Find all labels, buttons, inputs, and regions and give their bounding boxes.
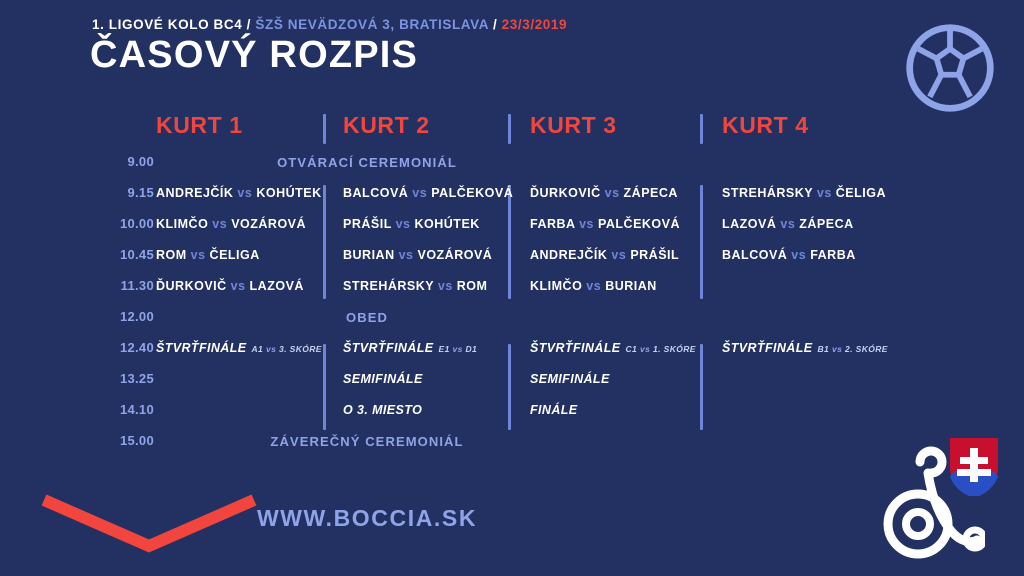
match-cell[interactable]: LAZOVÁ vs ZÁPECA	[722, 217, 854, 231]
match-cell[interactable]: KLIMČO vs VOZÁROVÁ	[156, 217, 306, 231]
row-time: 14.10	[92, 402, 154, 417]
match-cell[interactable]: ANDREJČÍK vs PRÁŠIL	[530, 248, 679, 262]
player-a: KLIMČO	[530, 279, 582, 293]
stage-cell[interactable]: ŠTVRŤFINÁLEE1 vs D1	[343, 341, 477, 355]
player-b: PALČEKOVÁ	[598, 217, 680, 231]
match-cell[interactable]: ANDREJČÍK vs KOHÚTEK	[156, 186, 322, 200]
match-cell[interactable]: BURIAN vs VOZÁROVÁ	[343, 248, 492, 262]
header-divider-1	[323, 114, 326, 144]
banner-label: OTVÁRACÍ CEREMONIÁL	[0, 155, 1024, 170]
page-title: ČASOVÝ ROZPIS	[90, 36, 418, 74]
player-b: BURIAN	[605, 279, 657, 293]
stage-cell[interactable]: SEMIFINÁLE	[530, 372, 610, 386]
red-chevron-shape	[38, 492, 260, 554]
vs-label: vs	[231, 279, 246, 293]
stage-cell[interactable]: SEMIFINÁLE	[343, 372, 423, 386]
vs-label: vs	[412, 186, 427, 200]
match-cell[interactable]: ROM vs ČELIGA	[156, 248, 260, 262]
row-time: 11.30	[92, 278, 154, 293]
player-a: ROM	[156, 248, 187, 262]
player-a: STREHÁRSKY	[722, 186, 813, 200]
player-b: VOZÁROVÁ	[417, 248, 492, 262]
match-cell[interactable]: ĎURKOVIČ vs LAZOVÁ	[156, 279, 304, 293]
schedule-rows: 9.00OTVÁRACÍ CEREMONIÁL9.15ANDREJČÍK vs …	[0, 150, 1024, 460]
stage-cell[interactable]: ŠTVRŤFINÁLEC1 vs 1. SKÓRE	[530, 341, 696, 355]
row-time: 12.40	[92, 340, 154, 355]
player-a: ANDREJČÍK	[156, 186, 233, 200]
boccia-ball-icon	[902, 20, 998, 116]
stage-cell[interactable]: FINÁLE	[530, 403, 578, 417]
separator-1: /	[242, 17, 255, 32]
stage-label: ŠTVRŤFINÁLE	[722, 341, 813, 355]
separator-2: /	[489, 17, 502, 32]
schedule-poster: 1. LIGOVÉ KOLO BC4 / ŠZŠ NEVÄDZOVÁ 3, BR…	[0, 0, 1024, 576]
player-b: KOHÚTEK	[415, 217, 480, 231]
vs-label: vs	[191, 248, 206, 262]
slovak-coat-of-arms-icon	[948, 436, 1000, 496]
stage-label: SEMIFINÁLE	[530, 372, 610, 386]
player-b: FARBA	[810, 248, 856, 262]
schedule-row: 12.00OBED	[0, 305, 1024, 336]
stage-label: ŠTVRŤFINÁLE	[343, 341, 434, 355]
header-divider-2	[508, 114, 511, 144]
player-a: BALCOVÁ	[722, 248, 787, 262]
player-b: ROM	[457, 279, 488, 293]
court-header-row: KURT 1 KURT 2 KURT 3 KURT 4	[0, 112, 1024, 148]
player-b: ZÁPECA	[799, 217, 853, 231]
stage-label: ŠTVRŤFINÁLE	[530, 341, 621, 355]
player-a: STREHÁRSKY	[343, 279, 434, 293]
schedule-row: 15.00ZÁVEREČNÝ CEREMONIÁL	[0, 429, 1024, 460]
banner-label: OBED	[0, 310, 1024, 325]
match-cell[interactable]: PRÁŠIL vs KOHÚTEK	[343, 217, 480, 231]
player-a: FARBA	[530, 217, 575, 231]
player-a: PRÁŠIL	[343, 217, 392, 231]
player-b: ČELIGA	[210, 248, 260, 262]
player-b: PALČEKOVÁ	[431, 186, 513, 200]
schedule-row: 9.00OTVÁRACÍ CEREMONIÁL	[0, 150, 1024, 181]
match-cell[interactable]: ĎURKOVIČ vs ZÁPECA	[530, 186, 678, 200]
vs-label: vs	[586, 279, 601, 293]
player-a: LAZOVÁ	[722, 217, 776, 231]
schedule-row: 14.10O 3. MIESTOFINÁLE	[0, 398, 1024, 429]
event-date: 23/3/2019	[502, 17, 567, 32]
schedule-row: 10.45ROM vs ČELIGABURIAN vs VOZÁROVÁANDR…	[0, 243, 1024, 274]
stage-cell[interactable]: ŠTVRŤFINÁLEB1 vs 2. SKÓRE	[722, 341, 888, 355]
row-time: 9.15	[92, 185, 154, 200]
event-subtitle: 1. LIGOVÉ KOLO BC4 / ŠZŠ NEVÄDZOVÁ 3, BR…	[92, 17, 567, 32]
court-header-1: KURT 1	[156, 112, 243, 139]
player-a: ANDREJČÍK	[530, 248, 607, 262]
stage-note: C1 vs 1. SKÓRE	[626, 344, 696, 354]
match-cell[interactable]: STREHÁRSKY vs ČELIGA	[722, 186, 886, 200]
vs-label: vs	[817, 186, 832, 200]
player-a: ĎURKOVIČ	[156, 279, 227, 293]
row-time: 13.25	[92, 371, 154, 386]
schedule-row: 9.15ANDREJČÍK vs KOHÚTEKBALCOVÁ vs PALČE…	[0, 181, 1024, 212]
banner-label: ZÁVEREČNÝ CEREMONIÁL	[0, 434, 1024, 449]
stage-note: E1 vs D1	[439, 344, 478, 354]
vs-label: vs	[791, 248, 806, 262]
court-header-2: KURT 2	[343, 112, 430, 139]
court-header-4: KURT 4	[722, 112, 809, 139]
player-a: BURIAN	[343, 248, 395, 262]
player-b: LAZOVÁ	[250, 279, 304, 293]
player-b: ZÁPECA	[624, 186, 678, 200]
stage-cell[interactable]: O 3. MIESTO	[343, 403, 422, 417]
player-a: BALCOVÁ	[343, 186, 408, 200]
match-cell[interactable]: FARBA vs PALČEKOVÁ	[530, 217, 680, 231]
stage-note: A1 vs 3. SKÓRE	[252, 344, 322, 354]
court-header-3: KURT 3	[530, 112, 617, 139]
stage-label: FINÁLE	[530, 403, 578, 417]
vs-label: vs	[396, 217, 411, 231]
vs-label: vs	[780, 217, 795, 231]
stage-cell[interactable]: ŠTVRŤFINÁLEA1 vs 3. SKÓRE	[156, 341, 322, 355]
player-a: ĎURKOVIČ	[530, 186, 601, 200]
vs-label: vs	[611, 248, 626, 262]
row-time: 10.00	[92, 216, 154, 231]
player-b: PRÁŠIL	[630, 248, 679, 262]
vs-label: vs	[579, 217, 594, 231]
match-cell[interactable]: BALCOVÁ vs PALČEKOVÁ	[343, 186, 513, 200]
vs-label: vs	[212, 217, 227, 231]
match-cell[interactable]: KLIMČO vs BURIAN	[530, 279, 657, 293]
row-time: 10.45	[92, 247, 154, 262]
player-b: ČELIGA	[836, 186, 886, 200]
player-b: KOHÚTEK	[256, 186, 321, 200]
schedule-row: 11.30ĎURKOVIČ vs LAZOVÁSTREHÁRSKY vs ROM…	[0, 274, 1024, 305]
vs-label: vs	[237, 186, 252, 200]
schedule-row: 12.40ŠTVRŤFINÁLEA1 vs 3. SKÓREŠTVRŤFINÁL…	[0, 336, 1024, 367]
match-cell[interactable]: STREHÁRSKY vs ROM	[343, 279, 487, 293]
round-label: 1. LIGOVÉ KOLO BC4	[92, 17, 242, 32]
schedule-row: 13.25SEMIFINÁLESEMIFINÁLE	[0, 367, 1024, 398]
venue-label: ŠZŠ NEVÄDZOVÁ 3, BRATISLAVA	[255, 17, 488, 32]
vs-label: vs	[438, 279, 453, 293]
vs-label: vs	[399, 248, 414, 262]
header-divider-3	[700, 114, 703, 144]
player-a: KLIMČO	[156, 217, 208, 231]
vs-label: vs	[605, 186, 620, 200]
stage-note: B1 vs 2. SKÓRE	[818, 344, 888, 354]
schedule-row: 10.00KLIMČO vs VOZÁROVÁPRÁŠIL vs KOHÚTEK…	[0, 212, 1024, 243]
player-b: VOZÁROVÁ	[231, 217, 306, 231]
stage-label: O 3. MIESTO	[343, 403, 422, 417]
stage-label: ŠTVRŤFINÁLE	[156, 341, 247, 355]
match-cell[interactable]: BALCOVÁ vs FARBA	[722, 248, 856, 262]
stage-label: SEMIFINÁLE	[343, 372, 423, 386]
